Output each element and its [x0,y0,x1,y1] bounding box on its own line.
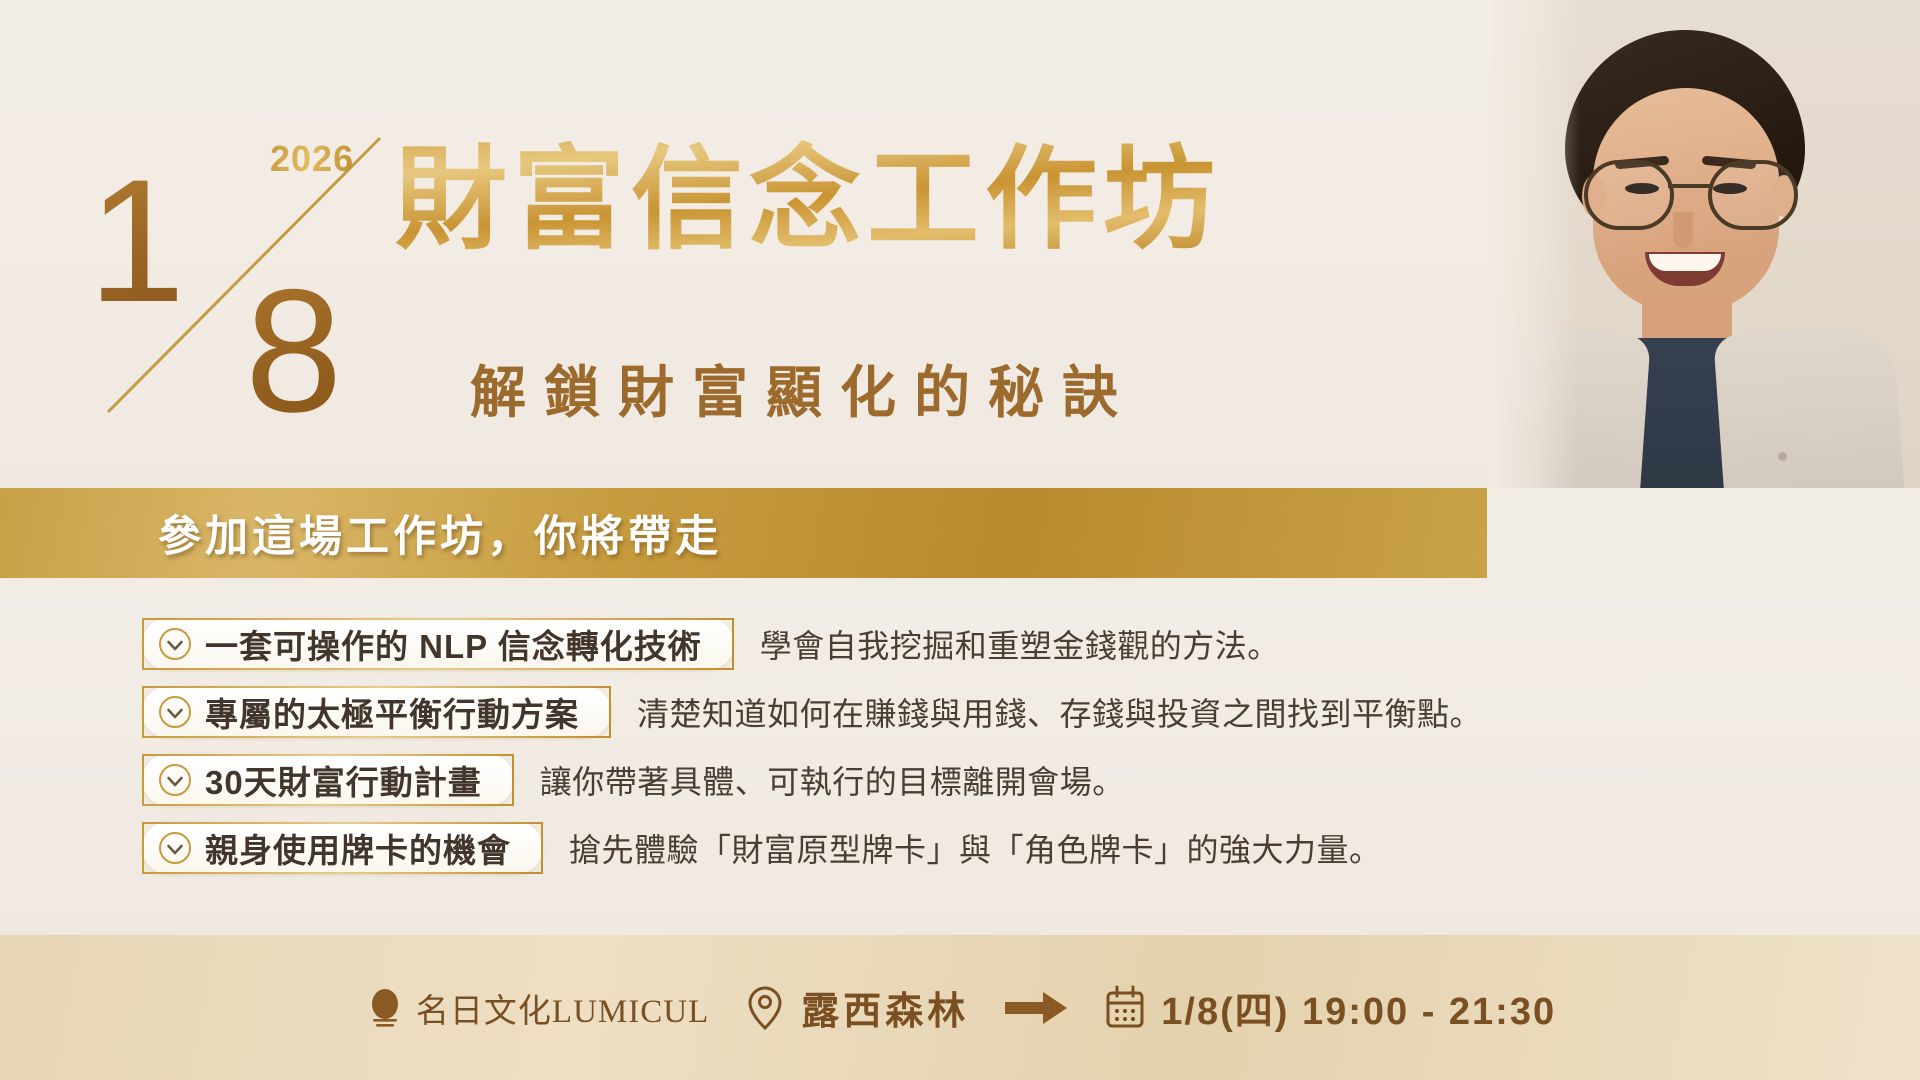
speaker-photo [1490,0,1920,488]
glasses-bridge [1668,184,1710,188]
datetime-block: 1/8(四) 19:00 - 21:30 [1103,980,1556,1035]
page-title: 財富信念工作坊 [395,140,1221,263]
location-pin-icon [743,984,787,1032]
gold-banner: 參加這場工作坊，你將帶走 [0,488,1487,578]
check-circle-icon [158,695,192,729]
footer-content: 名日文化LUMICUL 露西森林 [364,980,1556,1035]
benefit-pill: 親身使用牌卡的機會 [142,822,543,874]
promo-poster: 2026 1 8 財富信念工作坊 解鎖財富顯化的秘訣 [0,0,1920,1080]
benefit-description: 學會自我挖掘和重塑金錢觀的方法。 [760,621,1280,667]
check-circle-icon [158,627,192,661]
benefit-description: 讓你帶著具體、可執行的目標離開會場。 [540,757,1125,803]
brand-name: 名日文化LUMICUL [416,984,709,1032]
benefit-pill: 一套可操作的 NLP 信念轉化技術 [142,618,734,670]
speaker-jacket-button [1778,452,1787,461]
date-year: 2026 [270,138,354,180]
benefit-description: 清楚知道如何在賺錢與用錢、存錢與投資之間找到平衡點。 [637,689,1482,735]
brand-block: 名日文化LUMICUL [364,984,709,1032]
benefit-label: 30天財富行動計畫 [205,756,482,804]
benefit-description: 搶先體驗「財富原型牌卡」與「角色牌卡」的強大力量。 [569,825,1382,871]
benefit-row: 親身使用牌卡的機會 搶先體驗「財富原型牌卡」與「角色牌卡」的強大力量。 [142,814,1920,882]
benefit-pill: 30天財富行動計畫 [142,754,514,806]
speaker-jacket-right [1713,324,1911,488]
speaker-edge-fade [1490,0,1580,488]
benefit-pill: 專屬的太極平衡行動方案 [142,686,611,738]
gold-banner-text: 參加這場工作坊，你將帶走 [158,502,722,564]
date-day: 8 [245,278,342,427]
glasses-lens-right [1708,160,1798,230]
benefit-row: 一套可操作的 NLP 信念轉化技術 學會自我挖掘和重塑金錢觀的方法。 [142,610,1920,678]
speaker-nose [1673,212,1693,248]
benefit-label: 親身使用牌卡的機會 [205,824,511,872]
venue-block: 露西森林 [743,980,969,1035]
arrow-right-icon [1003,988,1069,1028]
glasses-lens-left [1584,160,1674,230]
benefit-label: 一套可操作的 NLP 信念轉化技術 [205,620,702,668]
venue-name: 露西森林 [801,980,969,1035]
footer-bar: 名日文化LUMICUL 露西森林 [0,935,1920,1080]
benefit-row: 30天財富行動計畫 讓你帶著具體、可執行的目標離開會場。 [142,746,1920,814]
date-block: 2026 1 8 [60,120,390,420]
logo-icon [364,986,406,1030]
benefit-label: 專屬的太極平衡行動方案 [205,688,579,736]
calendar-icon [1103,984,1147,1032]
speaker-teeth [1649,254,1721,271]
check-circle-icon [158,831,192,865]
page-subtitle: 解鎖財富顯化的秘訣 [470,348,1136,429]
date-month: 1 [88,168,185,317]
benefit-row: 專屬的太極平衡行動方案 清楚知道如何在賺錢與用錢、存錢與投資之間找到平衡點。 [142,678,1920,746]
check-circle-icon [158,763,192,797]
event-datetime: 1/8(四) 19:00 - 21:30 [1161,980,1556,1035]
benefits-list: 一套可操作的 NLP 信念轉化技術 學會自我挖掘和重塑金錢觀的方法。 專屬的太極… [0,600,1920,935]
hero-section: 2026 1 8 財富信念工作坊 解鎖財富顯化的秘訣 [0,0,1920,488]
